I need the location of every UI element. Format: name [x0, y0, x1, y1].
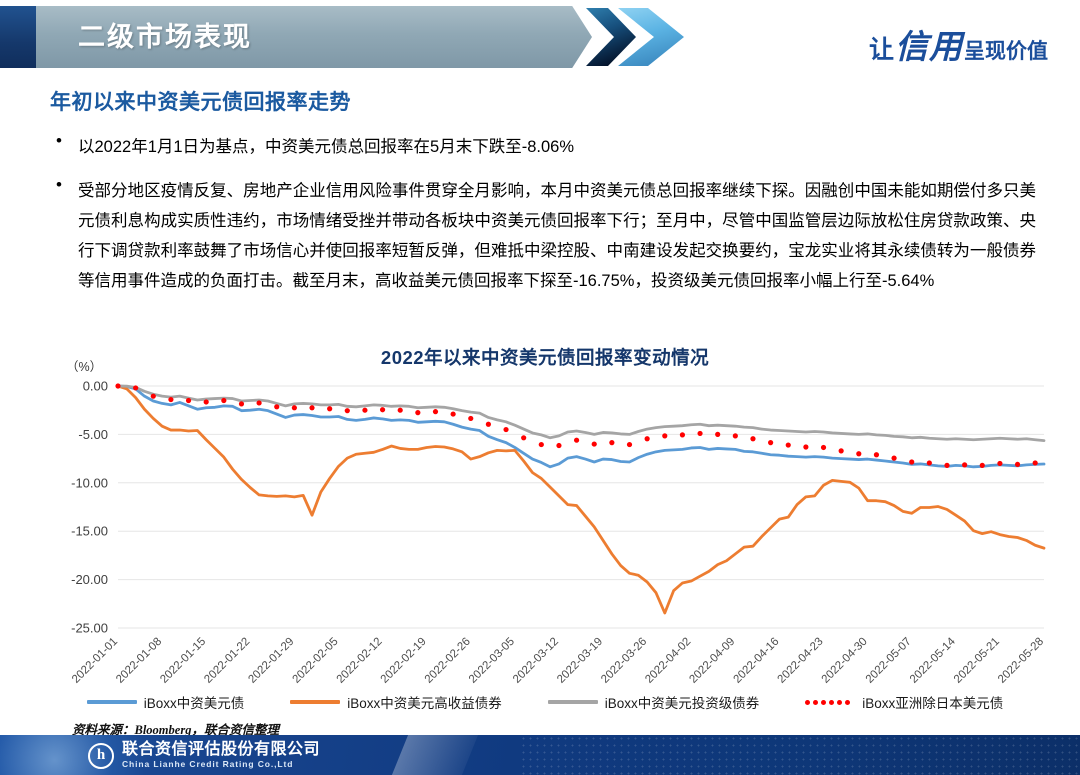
- series-marker: [292, 405, 297, 410]
- series-marker: [680, 432, 685, 437]
- x-axis-tick-label: 2022-05-14: [908, 635, 959, 686]
- x-axis-tick-label: 2022-02-12: [335, 636, 385, 686]
- series-marker: [345, 408, 350, 413]
- series-marker: [398, 408, 403, 413]
- series-marker: [733, 433, 738, 438]
- x-axis-tick-label: 2022-03-19: [555, 636, 605, 686]
- series-marker: [468, 416, 473, 421]
- chart-legend: iBoxx中资美元债iBoxx中资美元高收益债券iBoxx中资美元投资级债券iB…: [40, 692, 1050, 712]
- series-marker: [891, 456, 896, 461]
- legend-line-swatch: [548, 700, 598, 704]
- x-axis-tick-label: 2022-02-05: [291, 636, 341, 686]
- series-marker: [151, 394, 156, 399]
- series-line: [118, 386, 1044, 613]
- legend-item[interactable]: iBoxx中资美元高收益债券: [290, 692, 502, 712]
- company-logo: h 联合资信评估股份有限公司 China Lianhe Credit Ratin…: [88, 741, 320, 770]
- bullet-text: 受部分地区疫情反复、房地产企业信用风险事件贯穿全月影响，本月中资美元债总回报率继…: [78, 176, 1036, 296]
- series-marker: [839, 448, 844, 453]
- list-item: • 以2022年1月1日为基点，中资美元债总回报率在5月末下跌至-8.06%: [46, 132, 1036, 162]
- x-axis-tick-label: 2022-05-07: [864, 636, 914, 686]
- series-marker: [768, 440, 773, 445]
- page-title: 二级市场表现: [78, 20, 252, 54]
- y-axis-tick-label: 0.00: [83, 379, 108, 394]
- series-marker: [697, 431, 702, 436]
- series-marker: [327, 406, 332, 411]
- series-marker: [539, 442, 544, 447]
- legend-item[interactable]: iBoxx中资美元投资级债券: [548, 692, 760, 712]
- series-marker: [909, 459, 914, 464]
- series-marker: [874, 452, 879, 457]
- series-marker: [257, 400, 262, 405]
- legend-item[interactable]: iBoxx亚洲除日本美元债: [805, 692, 1003, 712]
- series-marker: [309, 405, 314, 410]
- slogan-emphasis: 信用: [894, 30, 964, 66]
- series-marker: [786, 442, 791, 447]
- legend-label: iBoxx亚洲除日本美元债: [862, 692, 1003, 712]
- series-marker: [433, 409, 438, 414]
- series-marker: [239, 401, 244, 406]
- x-axis-tick-label: 2022-02-19: [379, 636, 429, 686]
- series-marker: [927, 460, 932, 465]
- series-marker: [451, 411, 456, 416]
- series-marker: [574, 438, 579, 443]
- x-axis-tick-label: 2022-04-30: [820, 636, 870, 686]
- legend-item[interactable]: iBoxx中资美元债: [87, 692, 245, 712]
- series-marker: [380, 407, 385, 412]
- x-axis-tick-label: 2022-01-22: [202, 636, 252, 686]
- series-marker: [627, 442, 632, 447]
- x-axis-tick-label: 2022-04-09: [687, 636, 737, 686]
- company-name-en: China Lianhe Credit Rating Co.,Ltd: [122, 758, 320, 770]
- list-item: • 受部分地区疫情反复、房地产企业信用风险事件贯穿全月影响，本月中资美元债总回报…: [46, 176, 1036, 296]
- chart-container: 2022年以来中资美元债回报率变动情况 （%） 0.00-5.00-10.00-…: [40, 340, 1050, 730]
- series-marker: [856, 451, 861, 456]
- series-marker: [944, 463, 949, 468]
- x-axis-tick-label: 2022-04-16: [731, 636, 781, 686]
- bullet-text: 以2022年1月1日为基点，中资美元债总回报率在5月末下跌至-8.06%: [78, 132, 1036, 162]
- legend-dotted-swatch: [805, 700, 855, 705]
- series-marker: [415, 410, 420, 415]
- series-line: [118, 386, 1044, 467]
- x-axis-tick-label: 2022-04-23: [776, 636, 826, 686]
- footer-dot-pattern: [520, 735, 1080, 775]
- x-axis-tick-label: 2022-01-29: [246, 636, 296, 686]
- bullet-marker-icon: •: [56, 175, 62, 195]
- legend-label: iBoxx中资美元投资级债券: [605, 692, 760, 712]
- x-axis-tick-label: 2022-01-08: [114, 636, 164, 686]
- series-marker: [997, 461, 1002, 466]
- company-name-cn: 联合资信评估股份有限公司: [122, 741, 320, 758]
- series-marker: [133, 385, 138, 390]
- legend-line-swatch: [290, 700, 340, 704]
- slide-header: 二级市场表现: [0, 6, 1080, 68]
- series-marker: [750, 436, 755, 441]
- y-axis-tick-label: -25.00: [71, 621, 108, 636]
- slide: 二级市场表现: [0, 0, 1080, 775]
- y-axis-tick-label: -5.00: [78, 427, 108, 442]
- x-axis-tick-label: 2022-01-01: [70, 636, 120, 686]
- y-axis-tick-label: -15.00: [71, 524, 108, 539]
- brand-slogan: 让信用呈现价值: [869, 20, 1048, 68]
- slogan-prefix: 让: [869, 37, 894, 64]
- x-axis-tick-label: 2022-02-26: [423, 636, 473, 686]
- series-marker: [221, 398, 226, 403]
- series-marker: [274, 404, 279, 409]
- series-line: [118, 386, 1044, 441]
- legend-label: iBoxx中资美元高收益债券: [347, 692, 502, 712]
- series-marker: [1015, 462, 1020, 467]
- y-axis-tick-label: -20.00: [71, 572, 108, 587]
- series-marker: [521, 435, 526, 440]
- x-axis-tick-label: 2022-04-02: [643, 636, 693, 686]
- series-marker: [204, 399, 209, 404]
- series-marker: [592, 441, 597, 446]
- series-marker: [821, 445, 826, 450]
- slide-footer: h 联合资信评估股份有限公司 China Lianhe Credit Ratin…: [0, 735, 1080, 775]
- legend-line-swatch: [87, 700, 137, 704]
- legend-label: iBoxx中资美元债: [144, 692, 245, 712]
- series-marker: [168, 397, 173, 402]
- x-axis-tick-label: 2022-01-15: [158, 636, 208, 686]
- x-axis-tick-label: 2022-03-05: [467, 636, 517, 686]
- double-chevron-right-icon: [586, 8, 630, 66]
- series-marker: [1033, 460, 1038, 465]
- header-left-accent: [0, 6, 36, 68]
- lianhe-circle-logo-icon: h: [88, 743, 114, 769]
- series-marker: [803, 444, 808, 449]
- bullet-list: • 以2022年1月1日为基点，中资美元债总回报率在5月末下跌至-8.06% •…: [46, 132, 1036, 310]
- section-title: 年初以来中资美元债回报率走势: [50, 86, 351, 116]
- bullet-marker-icon: •: [56, 131, 62, 151]
- series-marker: [556, 443, 561, 448]
- series-marker: [503, 427, 508, 432]
- series-marker: [980, 463, 985, 468]
- line-chart-plot: 0.00-5.00-10.00-15.00-20.00-25.002022-01…: [40, 340, 1050, 730]
- x-axis-tick-label: 2022-05-28: [996, 636, 1046, 686]
- series-marker: [645, 436, 650, 441]
- slogan-suffix: 呈现价值: [964, 39, 1048, 63]
- series-marker: [962, 462, 967, 467]
- series-marker: [186, 398, 191, 403]
- series-marker: [609, 440, 614, 445]
- series-marker: [486, 422, 491, 427]
- y-axis-tick-label: -10.00: [71, 475, 108, 490]
- series-marker: [715, 432, 720, 437]
- series-marker: [662, 433, 667, 438]
- x-axis-tick-label: 2022-03-12: [511, 636, 561, 686]
- series-marker: [115, 383, 120, 388]
- x-axis-tick-label: 2022-05-21: [952, 636, 1002, 686]
- series-marker: [362, 408, 367, 413]
- x-axis-tick-label: 2022-03-26: [599, 636, 649, 686]
